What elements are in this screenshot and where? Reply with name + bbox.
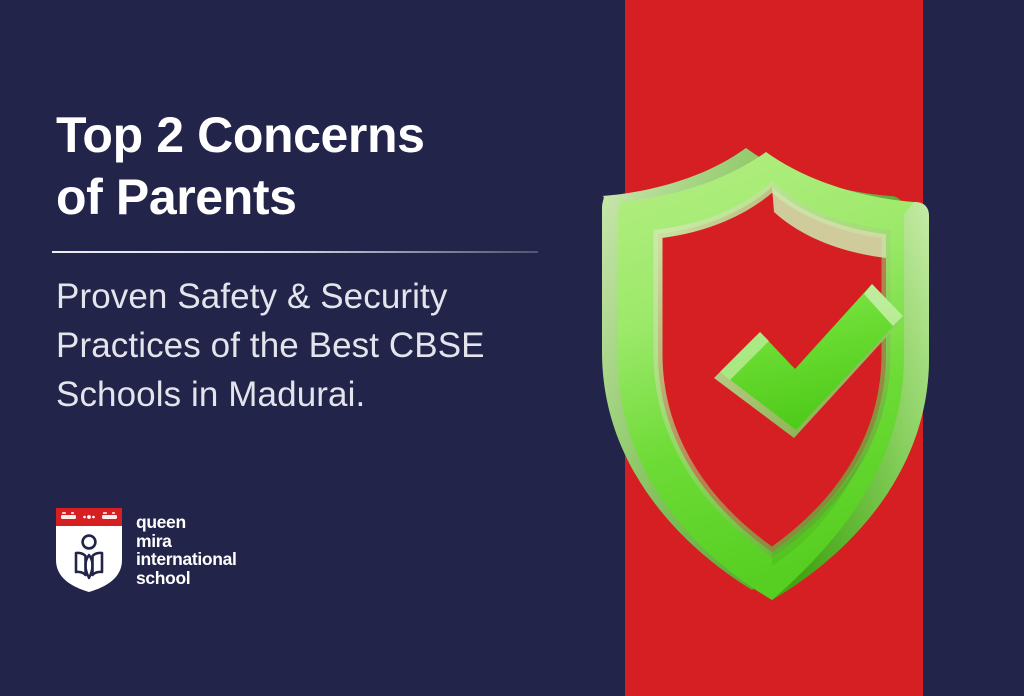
page-subtitle: Proven Safety & Security Practices of th… [56, 272, 556, 419]
banner-canvas: Top 2 Concerns of Parents Proven Safety … [0, 0, 1024, 696]
school-logo: queen mira international school [56, 508, 236, 592]
shield-check-icon [596, 138, 996, 606]
title-divider [52, 251, 538, 253]
page-title: Top 2 Concerns of Parents [56, 104, 556, 228]
crest-icon [56, 508, 122, 592]
logo-wordmark: queen mira international school [136, 513, 236, 587]
text-column: Top 2 Concerns of Parents Proven Safety … [56, 0, 576, 696]
